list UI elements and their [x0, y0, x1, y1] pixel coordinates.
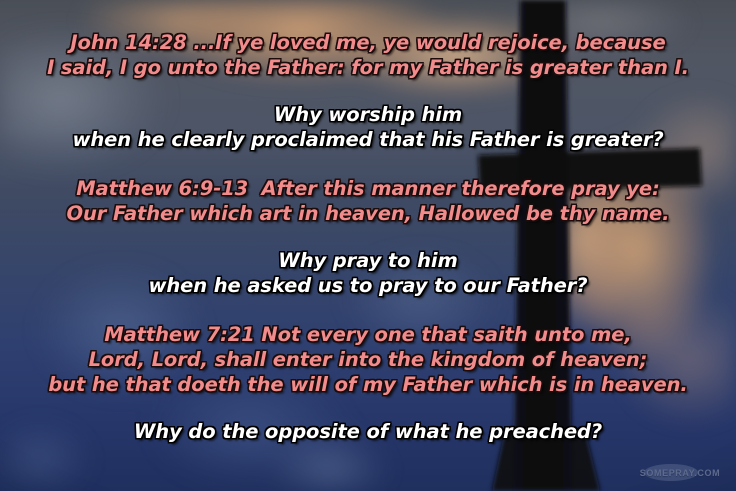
verse-john-14-28: John 14:28 ...If ye loved me, ye would r…: [0, 30, 736, 80]
verse-matthew-7-21-line-1: Matthew 7:21 Not every one that saith un…: [104, 323, 631, 346]
verse-matthew-6-9-13-line-1: Matthew 6:9-13 After this manner therefo…: [76, 177, 660, 200]
question-why-pray-to-him-line-2: when he asked us to pray to our Father?: [148, 274, 587, 297]
verse-matthew-6-9-13: Matthew 6:9-13 After this manner therefo…: [0, 176, 736, 226]
question-why-pray-to-him-line-1: Why pray to him: [278, 249, 457, 272]
verse-matthew-7-21: Matthew 7:21 Not every one that saith un…: [0, 322, 736, 397]
verse-matthew-6-9-13-line-2: Our Father which art in heaven, Hallowed…: [67, 202, 670, 225]
verse-john-14-28-line-1: John 14:28 ...If ye loved me, ye would r…: [70, 31, 665, 54]
question-why-do-the-opposite: Why do the opposite of what he preached?: [0, 419, 736, 444]
question-why-pray-to-him: Why pray to him when he asked us to pray…: [0, 248, 736, 298]
text-overlay-stack: John 14:28 ...If ye loved me, ye would r…: [0, 0, 736, 491]
verse-matthew-7-21-line-2: Lord, Lord, shall enter into the kingdom…: [89, 348, 648, 371]
question-why-worship-him-line-1: Why worship him: [274, 103, 462, 126]
meme-image: John 14:28 ...If ye loved me, ye would r…: [0, 0, 736, 491]
verse-matthew-7-21-line-3: but he that doeth the will of my Father …: [48, 373, 687, 396]
question-why-worship-him-line-2: when he clearly proclaimed that his Fath…: [72, 128, 663, 151]
verse-john-14-28-line-2: I said, I go unto the Father: for my Fat…: [47, 56, 689, 79]
question-why-do-the-opposite-line-1: Why do the opposite of what he preached?: [134, 420, 602, 443]
question-why-worship-him: Why worship him when he clearly proclaim…: [0, 102, 736, 152]
